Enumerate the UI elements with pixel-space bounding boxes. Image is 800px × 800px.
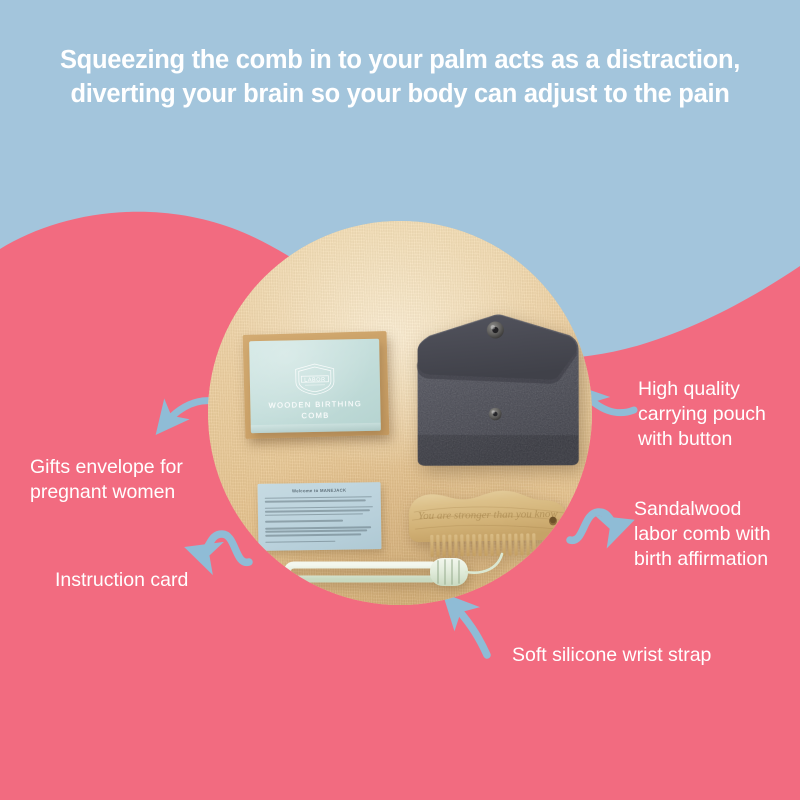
callout-carrying-pouch: High quality carrying pouch with button	[638, 377, 800, 452]
envelope-title-line-2: COMB	[301, 411, 329, 421]
callout-instruction-card: Instruction card	[55, 568, 270, 593]
silicone-wrist-strap	[280, 551, 515, 601]
labor-badge-text: LABOR	[304, 377, 326, 383]
envelope-title-line-1: WOODEN BIRTHING	[269, 399, 363, 410]
strap-loop	[287, 565, 432, 579]
strap-ribbed-barrel	[430, 558, 468, 586]
product-photo-circle: LABOR WOODEN BIRTHING COMB Welcome to MA…	[208, 221, 592, 605]
labor-badge-icon: LABOR	[292, 362, 339, 397]
headline-line-2: diverting your brain so your body can ad…	[0, 78, 800, 112]
instruction-card: Welcome to MANEJACK	[258, 482, 382, 551]
instruction-card-heading: Welcome to MANEJACK	[265, 487, 374, 494]
envelope-title: WOODEN BIRTHING COMB	[250, 398, 380, 422]
callout-labor-comb: Sandalwood labor comb with birth affirma…	[634, 497, 800, 572]
callout-gift-envelope: Gifts envelope for pregnant women	[30, 455, 245, 505]
strap-tail	[466, 554, 502, 573]
felt-carrying-pouch	[413, 313, 582, 468]
callout-wrist-strap: Soft silicone wrist strap	[512, 643, 792, 668]
sandalwood-comb: You are stronger than you know	[405, 485, 570, 560]
gift-envelope: LABOR WOODEN BIRTHING COMB	[249, 339, 381, 433]
headline: Squeezing the comb in to your palm acts …	[0, 44, 800, 112]
product-infographic: Squeezing the comb in to your palm acts …	[0, 0, 800, 800]
comb-engraving: You are stronger than you know	[418, 508, 558, 522]
headline-line-1: Squeezing the comb in to your palm acts …	[0, 44, 800, 78]
